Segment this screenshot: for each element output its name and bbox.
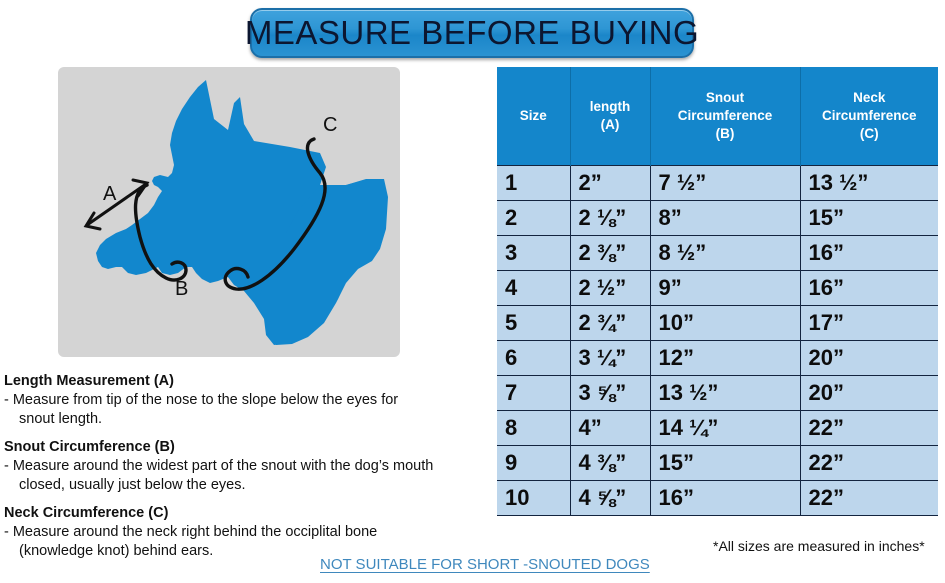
cell-snout: 12” bbox=[650, 340, 800, 375]
column-header-neck-line2: Circumference bbox=[822, 108, 917, 123]
cell-size: 8 bbox=[497, 410, 570, 445]
cell-size: 5 bbox=[497, 305, 570, 340]
cell-size: 2 bbox=[497, 200, 570, 235]
table-row: 12”7 ½”13 ½” bbox=[497, 165, 938, 200]
table-row: 42 ½”9”16” bbox=[497, 270, 938, 305]
cell-length: 3 ¼” bbox=[570, 340, 650, 375]
cell-neck: 17” bbox=[800, 305, 938, 340]
instruction-line-1: - Measure around the neck right behind t… bbox=[4, 524, 377, 540]
instruction-body: - Measure around the neck right behind t… bbox=[4, 523, 484, 561]
column-header-snout: Snout Circumference (B) bbox=[650, 67, 800, 165]
column-header-snout-line2: Circumference bbox=[678, 108, 773, 123]
table-row: 32 ⅜”8 ½”16” bbox=[497, 235, 938, 270]
cell-snout: 13 ½” bbox=[650, 375, 800, 410]
instruction-snout: Snout Circumference (B) - Measure around… bbox=[4, 438, 484, 495]
cell-length: 4” bbox=[570, 410, 650, 445]
table-row: 94 ⅜”15”22” bbox=[497, 445, 938, 480]
instruction-length: Length Measurement (A) - Measure from ti… bbox=[4, 372, 484, 429]
column-header-snout-line3: (B) bbox=[716, 126, 735, 141]
instruction-heading: Neck Circumference (C) bbox=[4, 504, 484, 522]
cell-neck: 22” bbox=[800, 410, 938, 445]
cell-length: 2 ½” bbox=[570, 270, 650, 305]
cell-length: 2 ⅜” bbox=[570, 235, 650, 270]
column-header-length-line2: (A) bbox=[601, 117, 620, 132]
column-header-length: length (A) bbox=[570, 67, 650, 165]
size-chart-table: Size length (A) Snout Circumference (B) … bbox=[497, 67, 938, 516]
cell-size: 4 bbox=[497, 270, 570, 305]
instruction-line-1: - Measure from tip of the nose to the sl… bbox=[4, 392, 398, 408]
cell-length: 2” bbox=[570, 165, 650, 200]
instruction-body: - Measure from tip of the nose to the sl… bbox=[4, 391, 484, 429]
cell-neck: 13 ½” bbox=[800, 165, 938, 200]
table-header-row: Size length (A) Snout Circumference (B) … bbox=[497, 67, 938, 165]
cell-neck: 16” bbox=[800, 235, 938, 270]
instructions-list: Length Measurement (A) - Measure from ti… bbox=[4, 372, 484, 569]
cell-size: 3 bbox=[497, 235, 570, 270]
cell-size: 10 bbox=[497, 480, 570, 515]
instruction-line-1: - Measure around the widest part of the … bbox=[4, 458, 433, 474]
table-row: 22 ⅛”8”15” bbox=[497, 200, 938, 235]
cell-size: 7 bbox=[497, 375, 570, 410]
cell-snout: 7 ½” bbox=[650, 165, 800, 200]
cell-snout: 15” bbox=[650, 445, 800, 480]
cell-length: 2 ⅛” bbox=[570, 200, 650, 235]
instruction-line-2: snout length. bbox=[7, 410, 484, 429]
cell-snout: 10” bbox=[650, 305, 800, 340]
cell-neck: 15” bbox=[800, 200, 938, 235]
table-header: Size length (A) Snout Circumference (B) … bbox=[497, 67, 938, 165]
cell-neck: 20” bbox=[800, 340, 938, 375]
cell-snout: 14 ¼” bbox=[650, 410, 800, 445]
instruction-body: - Measure around the widest part of the … bbox=[4, 457, 484, 495]
cell-snout: 16” bbox=[650, 480, 800, 515]
dog-head-silhouette-svg: A B C bbox=[58, 67, 400, 357]
table-row: 104 ⅝”16”22” bbox=[497, 480, 938, 515]
table-body: 12”7 ½”13 ½”22 ⅛”8”15”32 ⅜”8 ½”16”42 ½”9… bbox=[497, 165, 938, 515]
instruction-heading: Length Measurement (A) bbox=[4, 372, 484, 390]
units-note: *All sizes are measured in inches* bbox=[713, 538, 925, 554]
column-header-length-line1: length bbox=[590, 99, 631, 114]
column-header-neck-line1: Neck bbox=[853, 90, 885, 105]
cell-length: 2 ¾” bbox=[570, 305, 650, 340]
cell-neck: 22” bbox=[800, 480, 938, 515]
dog-measurement-diagram: A B C bbox=[58, 67, 400, 357]
column-header-neck: Neck Circumference (C) bbox=[800, 67, 938, 165]
cell-neck: 20” bbox=[800, 375, 938, 410]
label-a: A bbox=[103, 183, 117, 205]
instruction-neck: Neck Circumference (C) - Measure around … bbox=[4, 504, 484, 561]
cell-neck: 16” bbox=[800, 270, 938, 305]
label-c: C bbox=[323, 114, 337, 136]
table-row: 52 ¾”10”17” bbox=[497, 305, 938, 340]
cell-snout: 9” bbox=[650, 270, 800, 305]
table-row: 84”14 ¼”22” bbox=[497, 410, 938, 445]
column-header-neck-line3: (C) bbox=[860, 126, 879, 141]
table-row: 73 ⅝”13 ½”20” bbox=[497, 375, 938, 410]
cell-length: 4 ⅝” bbox=[570, 480, 650, 515]
column-header-snout-line1: Snout bbox=[706, 90, 744, 105]
cell-size: 6 bbox=[497, 340, 570, 375]
cell-length: 4 ⅜” bbox=[570, 445, 650, 480]
column-header-size-label: Size bbox=[520, 108, 547, 123]
short-snout-warning: NOT SUITABLE FOR SHORT -SNOUTED DOGS bbox=[320, 556, 650, 573]
cell-snout: 8 ½” bbox=[650, 235, 800, 270]
label-b: B bbox=[175, 278, 188, 300]
cell-size: 1 bbox=[497, 165, 570, 200]
title-banner: MEASURE BEFORE BUYING bbox=[250, 8, 694, 58]
cell-length: 3 ⅝” bbox=[570, 375, 650, 410]
page-title: MEASURE BEFORE BUYING bbox=[245, 14, 699, 52]
column-header-size: Size bbox=[497, 67, 570, 165]
instruction-line-2: closed, usually just below the eyes. bbox=[7, 476, 484, 495]
cell-size: 9 bbox=[497, 445, 570, 480]
instruction-heading: Snout Circumference (B) bbox=[4, 438, 484, 456]
table-row: 63 ¼”12”20” bbox=[497, 340, 938, 375]
cell-snout: 8” bbox=[650, 200, 800, 235]
cell-neck: 22” bbox=[800, 445, 938, 480]
